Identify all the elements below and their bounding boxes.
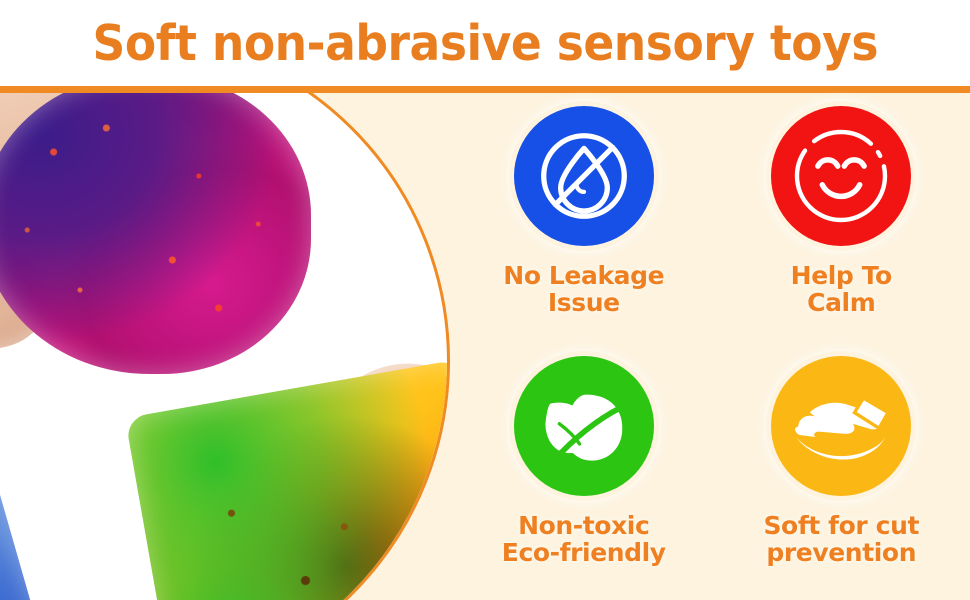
feature-label-line2: Calm [791, 289, 892, 316]
feature-label: Soft for cut prevention [763, 512, 919, 566]
feature-cut-prevention: Soft for cut prevention [713, 350, 970, 600]
feature-label-line1: Non-toxic [502, 512, 666, 539]
feature-label: No Leakage Issue [503, 262, 664, 316]
feature-label: Non-toxic Eco-friendly [502, 512, 666, 566]
feature-label-line1: Soft for cut [763, 512, 919, 539]
leaves-icon [514, 356, 654, 496]
feature-help-to-calm: Help To Calm [713, 100, 970, 350]
product-photo-panel [0, 93, 452, 600]
open-hand-icon [771, 356, 911, 496]
feature-label: Help To Calm [791, 262, 892, 316]
pink-purple-glitter-gel-pad [0, 93, 311, 374]
smiley-face-icon [771, 106, 911, 246]
no-water-drop-icon [514, 106, 654, 246]
page-title: Soft non-abrasive sensory toys [92, 19, 877, 68]
feature-non-toxic: Non-toxic Eco-friendly [455, 350, 713, 600]
product-feature-banner: Soft non-abrasive sensory toys [0, 0, 970, 600]
feature-grid: No Leakage Issue Help To Calm [455, 100, 970, 600]
header-divider [0, 86, 970, 93]
photo-circle-frame [0, 93, 450, 600]
blue-gold-glitter-gel-pad [0, 366, 46, 600]
header-bar: Soft non-abrasive sensory toys [0, 0, 970, 86]
feature-no-leakage: No Leakage Issue [455, 100, 713, 350]
feature-label-line2: Eco-friendly [502, 539, 666, 566]
feature-label-line1: Help To [791, 262, 892, 289]
feature-label-line1: No Leakage [503, 262, 664, 289]
feature-label-line2: prevention [763, 539, 919, 566]
yellow-orange-glitter-gel-pad [125, 359, 450, 600]
feature-label-line2: Issue [503, 289, 664, 316]
